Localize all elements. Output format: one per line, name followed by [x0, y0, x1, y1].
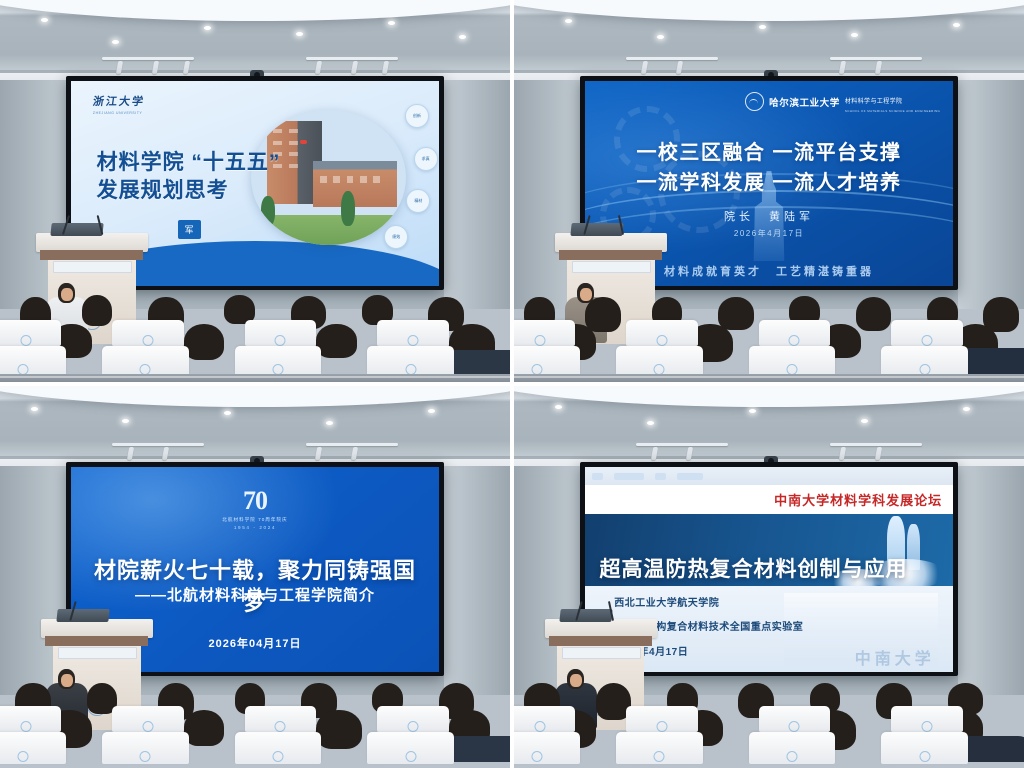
audience — [514, 283, 1024, 382]
slide-title: 材料学院 “十五五” 发展规划思考 — [97, 149, 281, 206]
panel-top-left: 浙江大学 ZHEJIANG UNIVERSITY — [0, 0, 510, 382]
wall-right — [444, 466, 510, 695]
slide-title: 超高温防热复合材料创制与应用 — [600, 553, 908, 583]
hit-seal-icon — [745, 92, 764, 111]
slide-title-line1: 材料学院 “十五五” — [97, 149, 281, 177]
arc-node-4: 绩效 — [384, 225, 408, 249]
anniversary-number: 70 — [200, 488, 310, 514]
slide-affiliation-1: 西北工业大学航天学院 — [614, 594, 719, 609]
slide-speaker: 院长 黄陆军 — [585, 208, 953, 224]
slide-title: 一校三区融合 一流平台支撑 一流学科发展 一流人才培养 — [585, 138, 953, 198]
panel-bottom-left: 70 北航材料学院 70周年院庆 1954 - 2024 材院薪火七十载，聚力同… — [0, 386, 510, 768]
hit-logo: 哈尔滨工业大学 材料科学与工程学院 SCHOOL OF MATERIALS SC… — [745, 90, 940, 113]
anniversary-years: 1954 - 2024 — [200, 525, 310, 530]
audience — [0, 283, 510, 382]
hit-logo-name: 哈尔滨工业大学 — [769, 95, 840, 109]
anniversary-caption: 北航材料学院 70周年院庆 — [200, 517, 310, 523]
arc-node-3: 精材 — [406, 189, 430, 213]
forum-banner: 中南大学材料学科发展论坛 — [774, 490, 942, 509]
slide-title-line1: 一校三区融合 一流平台支撑 — [585, 138, 953, 168]
ceiling-arc — [0, 0, 510, 21]
hit-logo-dept: 材料科学与工程学院 — [845, 99, 903, 105]
wall-right — [958, 466, 1024, 695]
photo-collage: 浙江大学 ZHEJIANG UNIVERSITY — [0, 0, 1024, 768]
panel-top-right: 哈尔滨工业大学 材料科学与工程学院 SCHOOL OF MATERIALS SC… — [514, 0, 1024, 382]
slide-title-line2: 一流学科发展 一流人才培养 — [585, 168, 953, 198]
zju-logo-text: 浙江大学 — [92, 93, 194, 109]
slide-subtitle: ——北航材料科学与工程学院简介 — [86, 584, 425, 605]
anniversary-logo: 70 北航材料学院 70周年院庆 1954 - 2024 — [200, 488, 310, 530]
ceiling-arc — [514, 0, 1024, 21]
zju-logo: 浙江大学 ZHEJIANG UNIVERSITY — [93, 93, 192, 115]
ceiling-arc — [514, 386, 1024, 407]
wall-right — [958, 80, 1024, 309]
panel-bottom-right: 中南大学材料学科发展论坛 超高温防热复合材料创制与应用 中南大学 西北工业大学航… — [514, 386, 1024, 768]
process-arc: 创新 求真 精材 绩效 — [284, 97, 431, 261]
hit-logo-en: SCHOOL OF MATERIALS SCIENCE AND ENGINEER… — [845, 109, 940, 113]
slide-badge: 军 — [178, 220, 201, 239]
presentation-toolbar[interactable] — [585, 467, 953, 486]
wall-right — [444, 80, 510, 309]
audience — [514, 669, 1024, 768]
ceiling-arc — [0, 386, 510, 407]
slide-title-line2: 发展规划思考 — [97, 177, 281, 205]
arc-node-1: 创新 — [405, 104, 429, 128]
arc-node-2: 求真 — [414, 147, 438, 171]
campus-watermark-text: 中南大学 — [855, 645, 935, 669]
zju-logo-sub: ZHEJIANG UNIVERSITY — [93, 111, 192, 115]
audience — [0, 669, 510, 768]
